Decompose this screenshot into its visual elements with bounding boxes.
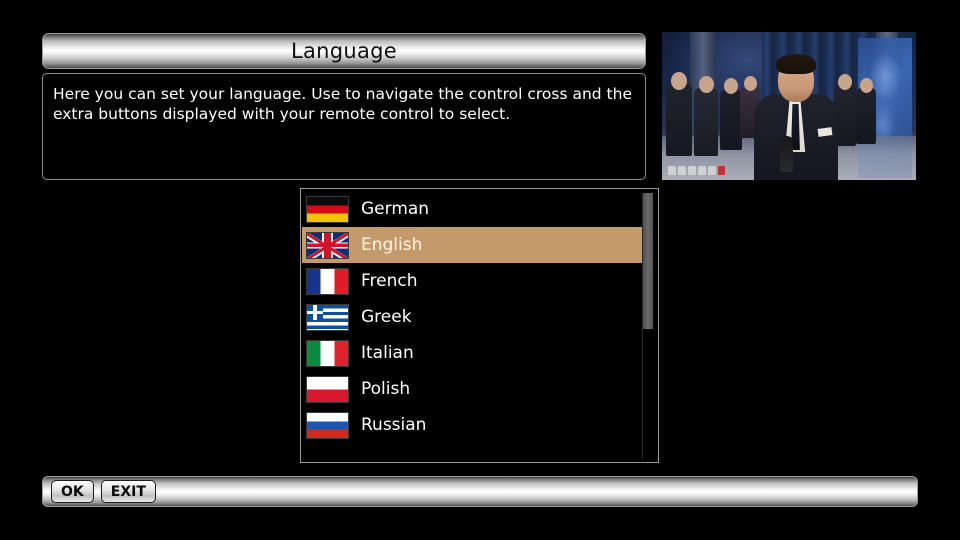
union-jack-diagonals (307, 233, 348, 258)
video-reporter-hair (776, 54, 816, 74)
language-list-item[interactable]: German (302, 191, 644, 227)
flag-greece-icon (306, 304, 349, 331)
video-crowd-head (724, 78, 738, 94)
video-preview[interactable] (662, 32, 916, 180)
channel-logo-watermark (668, 164, 746, 177)
language-list-item[interactable]: Polish (302, 371, 644, 407)
language-label: English (361, 235, 422, 255)
video-crowd-head (838, 74, 852, 90)
language-list-item[interactable]: French (302, 263, 644, 299)
video-crowd-head (744, 76, 757, 91)
language-list-item[interactable]: Greek (302, 299, 644, 335)
language-label: French (361, 271, 418, 291)
video-crowd-figure (856, 88, 876, 144)
language-list-item[interactable]: Russian (302, 407, 644, 443)
video-microphone (780, 136, 793, 172)
list-scrollbar-thumb[interactable] (643, 193, 653, 329)
video-crowd-figure (666, 84, 692, 156)
description-text: Here you can set your language. Use to n… (53, 84, 633, 124)
video-crowd-head (860, 78, 873, 93)
language-list-panel[interactable]: GermanEnglishFrenchGreekItalianPolishRus… (300, 188, 659, 463)
tv-settings-screen: Language Here you can set your language.… (0, 0, 960, 540)
list-scrollbar-track[interactable] (642, 193, 652, 459)
flag-france-icon (306, 268, 349, 295)
language-list-item[interactable]: English (302, 227, 644, 263)
video-crowd-figure (720, 90, 742, 150)
video-crowd-head (699, 76, 714, 93)
language-label: Polish (361, 379, 410, 399)
language-label: Russian (361, 415, 426, 435)
flag-united-kingdom-icon (306, 232, 349, 259)
language-list: GermanEnglishFrenchGreekItalianPolishRus… (302, 191, 644, 443)
language-label: German (361, 199, 429, 219)
flag-italy-icon (306, 340, 349, 367)
description-panel: Here you can set your language. Use to n… (42, 73, 646, 180)
page-title: Language (291, 39, 397, 63)
bottom-action-bar: OK EXIT (42, 476, 918, 507)
video-crowd-head (671, 72, 687, 90)
title-bar: Language (42, 33, 646, 69)
exit-button[interactable]: EXIT (101, 480, 156, 503)
flag-germany-icon (306, 196, 349, 223)
language-label: Italian (361, 343, 414, 363)
language-list-item[interactable]: Italian (302, 335, 644, 371)
flag-poland-icon (306, 376, 349, 403)
video-crowd-figure (694, 88, 718, 156)
language-label: Greek (361, 307, 412, 327)
flag-russia-icon (306, 412, 349, 439)
ok-button[interactable]: OK (51, 480, 94, 503)
